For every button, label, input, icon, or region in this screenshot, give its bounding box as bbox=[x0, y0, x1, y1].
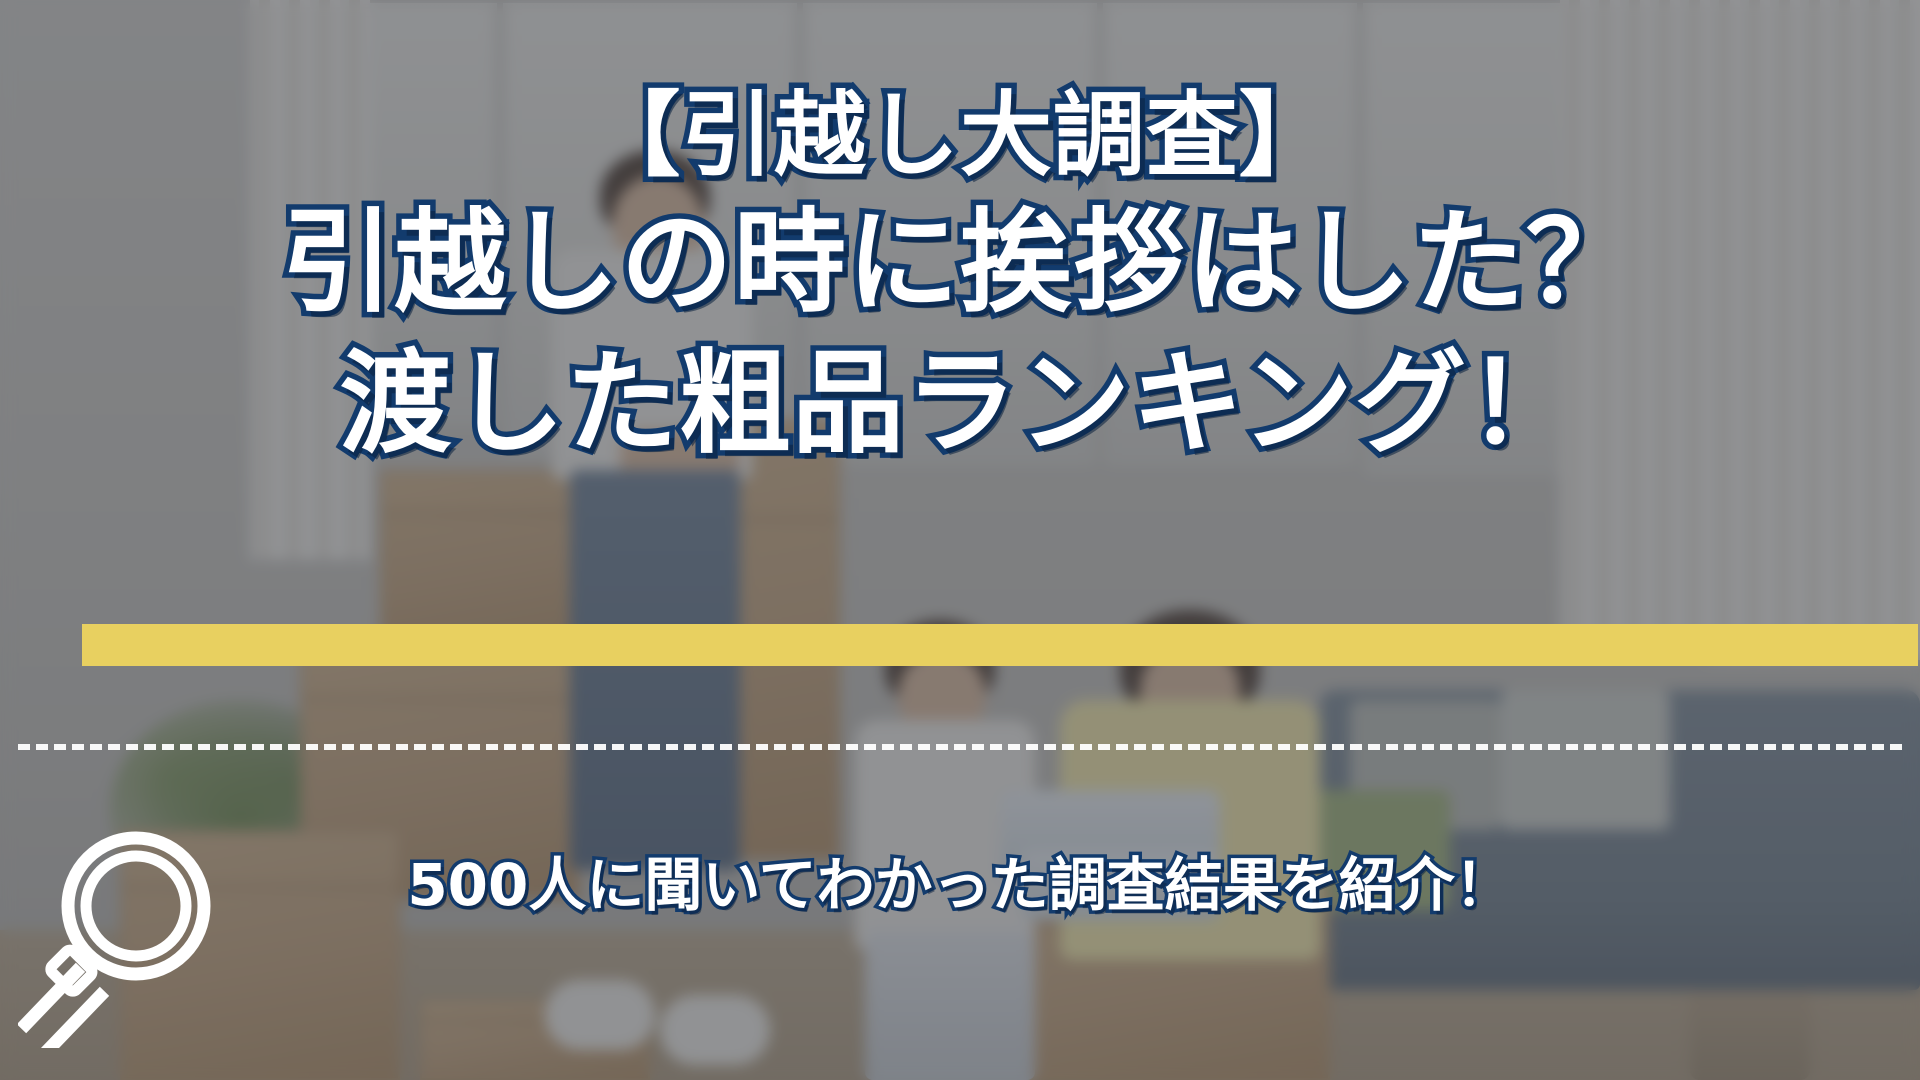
dashed-divider bbox=[18, 744, 1902, 750]
headline-line-2: 引越しの時に挨拶はした？ bbox=[0, 201, 1920, 326]
subtitle-text: 500人に聞いてわかった調査結果を紹介！ bbox=[0, 838, 1920, 922]
headline-line-3: 渡した粗品ランキング！ bbox=[0, 342, 1920, 467]
magnifier-icon bbox=[18, 828, 218, 1048]
highlight-marker-bar bbox=[82, 624, 1918, 666]
banner-content: 【引越し大調査】 引越しの時に挨拶はした？ 渡した粗品ランキング！ 500人に聞… bbox=[0, 0, 1920, 1080]
headline-line-1: 【引越し大調査】 bbox=[0, 84, 1920, 187]
headline: 【引越し大調査】 引越しの時に挨拶はした？ 渡した粗品ランキング！ bbox=[0, 84, 1920, 468]
banner-canvas: 【引越し大調査】 引越しの時に挨拶はした？ 渡した粗品ランキング！ 500人に聞… bbox=[0, 0, 1920, 1080]
